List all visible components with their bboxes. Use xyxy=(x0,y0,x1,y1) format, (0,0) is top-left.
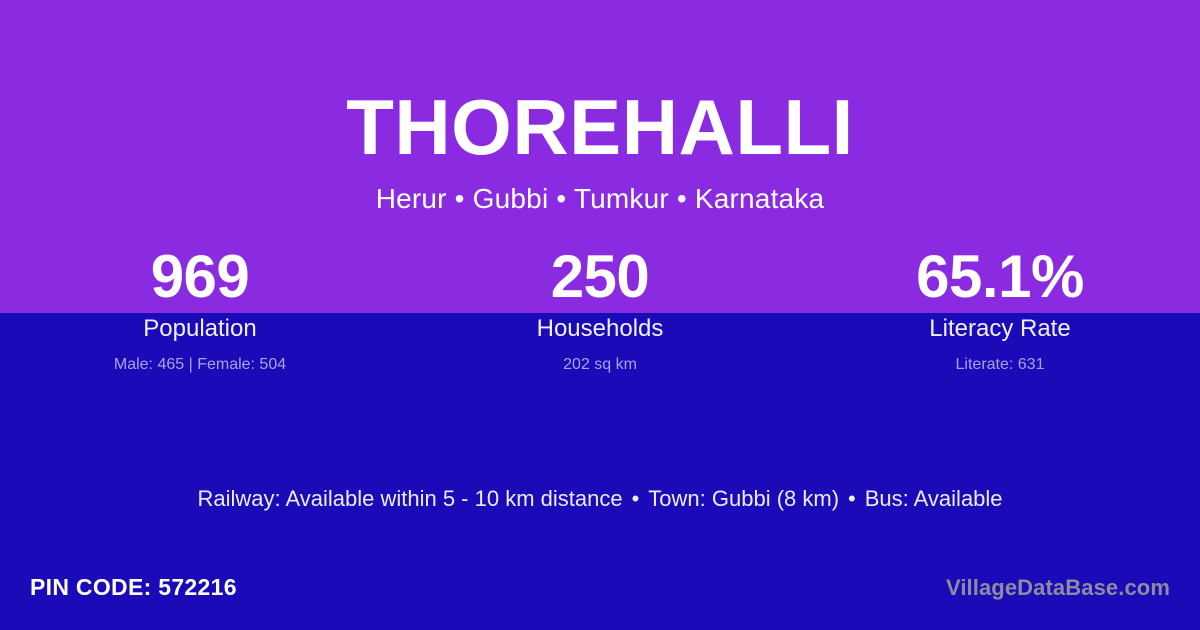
infra-railway: Railway: Available within 5 - 10 km dist… xyxy=(197,486,622,511)
stat-value: 250 xyxy=(400,245,800,309)
village-info-card: THOREHALLI Herur • Gubbi • Tumkur • Karn… xyxy=(0,0,1200,630)
bullet-separator-icon: • xyxy=(623,486,649,512)
stat-value: 969 xyxy=(0,245,400,309)
page-title: THOREHALLI xyxy=(0,88,1200,166)
stat-population: 969 Population Male: 465 | Female: 504 xyxy=(0,245,400,375)
breadcrumb: Herur • Gubbi • Tumkur • Karnataka xyxy=(0,183,1200,215)
stat-value: 65.1% xyxy=(800,245,1200,309)
stat-sublabel: 202 sq km xyxy=(400,355,800,375)
stat-label: Population xyxy=(0,315,400,343)
stat-label: Households xyxy=(400,315,800,343)
bullet-separator-icon: • xyxy=(839,486,865,512)
pin-code-label: PIN CODE: 572216 xyxy=(30,572,237,602)
stat-sublabel: Male: 465 | Female: 504 xyxy=(0,355,400,375)
footer: PIN CODE: 572216 VillageDataBase.com xyxy=(0,572,1200,616)
infra-town: Town: Gubbi (8 km) xyxy=(648,486,839,511)
stat-sublabel: Literate: 631 xyxy=(800,355,1200,375)
brand-watermark: VillageDataBase.com xyxy=(946,574,1170,602)
infrastructure-summary: Railway: Available within 5 - 10 km dist… xyxy=(0,486,1200,512)
infra-bus: Bus: Available xyxy=(865,486,1003,511)
stat-label: Literacy Rate xyxy=(800,315,1200,343)
stat-households: 250 Households 202 sq km xyxy=(400,245,800,375)
stats-row: 969 Population Male: 465 | Female: 504 2… xyxy=(0,245,1200,375)
stat-literacy-rate: 65.1% Literacy Rate Literate: 631 xyxy=(800,245,1200,375)
